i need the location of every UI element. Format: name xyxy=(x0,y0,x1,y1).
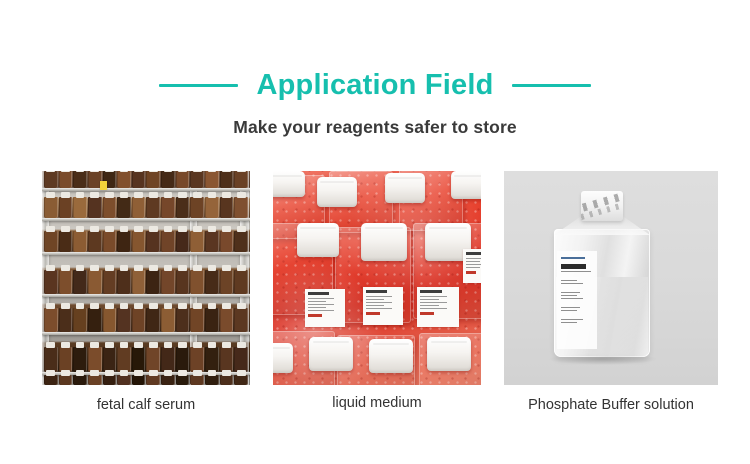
cap-back-2 xyxy=(317,177,357,207)
bottle-label-2 xyxy=(363,287,403,325)
shelf-1 xyxy=(42,188,250,191)
card-caption-liquid-medium: liquid medium xyxy=(273,395,481,412)
bottle-row-5 xyxy=(42,308,250,332)
cap-mid-1 xyxy=(297,223,339,257)
shelf-tag xyxy=(100,181,107,190)
shelf-5 xyxy=(42,332,250,335)
bottle-row-7 xyxy=(42,375,250,385)
card-caption-fetal-calf-serum: fetal calf serum xyxy=(42,397,250,414)
cap-front-3 xyxy=(427,337,471,371)
cap-front-1 xyxy=(309,337,353,371)
pbs-bottle-cap xyxy=(581,191,623,221)
page-subtitle: Make your reagents safer to store xyxy=(0,117,750,138)
cap-back-3 xyxy=(385,173,425,203)
title-row: Application Field xyxy=(0,62,750,108)
bottle-label-3 xyxy=(417,287,459,327)
card-liquid-medium[interactable]: liquid medium xyxy=(273,171,481,414)
pbs-bottle-label xyxy=(557,251,597,349)
cap-back-4 xyxy=(451,171,481,199)
bottle-row-3 xyxy=(42,231,250,252)
shelf-2 xyxy=(42,218,250,221)
photo-fetal-calf-serum xyxy=(42,171,250,385)
application-cards: fetal calf serum xyxy=(42,171,718,414)
bottle-row-1 xyxy=(42,171,250,188)
card-phosphate-buffer-solution[interactable]: Phosphate Buffer solution xyxy=(504,171,718,414)
page-title: Application Field xyxy=(256,71,493,100)
application-field-banner: Application Field Make your reagents saf… xyxy=(0,0,750,464)
heading-block: Application Field Make your reagents saf… xyxy=(0,62,750,138)
left-rule-decoration xyxy=(159,84,238,87)
bottle-label-1 xyxy=(305,289,345,327)
card-fetal-calf-serum[interactable]: fetal calf serum xyxy=(42,171,250,414)
cap-back-1 xyxy=(273,171,305,197)
bottle-label-4 xyxy=(463,249,481,283)
right-rule-decoration xyxy=(512,84,591,87)
bottle-row-6 xyxy=(42,347,250,372)
bottle-row-2 xyxy=(42,197,250,218)
card-caption-phosphate-buffer-solution: Phosphate Buffer solution xyxy=(504,397,718,414)
cap-front-4 xyxy=(273,343,293,373)
cap-mid-2 xyxy=(361,223,407,261)
bottle-row-4 xyxy=(42,270,250,294)
shelf-4 xyxy=(42,294,250,297)
photo-liquid-medium xyxy=(273,171,481,385)
shelf-3 xyxy=(42,252,250,255)
cap-front-2 xyxy=(369,339,413,373)
photo-phosphate-buffer-solution xyxy=(504,171,718,385)
